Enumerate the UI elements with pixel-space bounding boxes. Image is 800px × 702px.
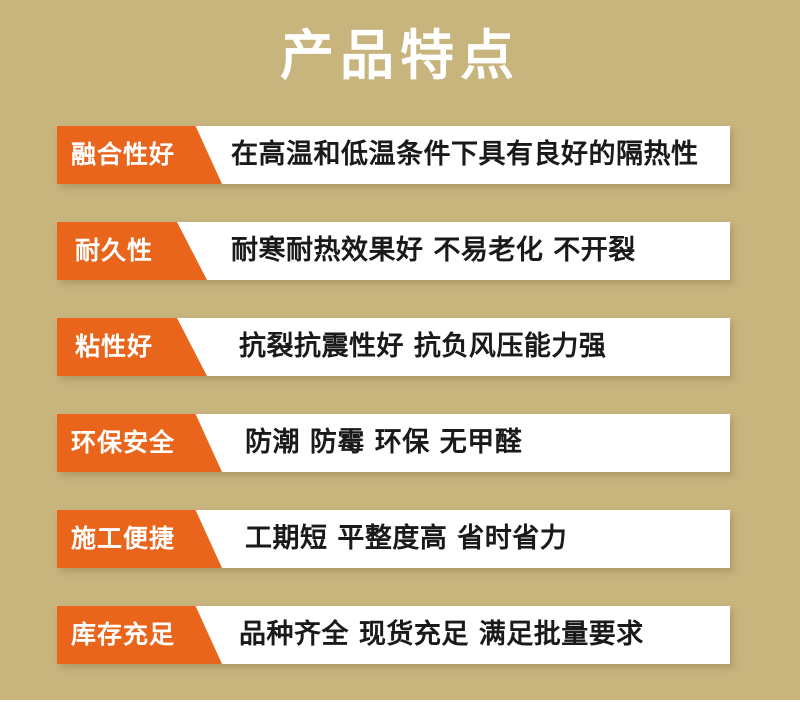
feature-row: 库存充足 品种齐全 现货充足 满足批量要求 [0,606,800,664]
feature-tag-banner: 库存充足 [57,606,222,664]
feature-row: 施工便捷 工期短 平整度高 省时省力 [0,510,800,568]
feature-tag-banner: 融合性好 [57,126,222,184]
page-title: 产品特点 [0,28,800,85]
feature-description: 耐寒耐热效果好 不易老化 不开裂 [231,222,636,280]
product-features-poster: 产品特点 融合性好 在高温和低温条件下具有良好的隔热性 耐久性 耐寒耐热效果好 … [0,0,800,700]
feature-description: 抗裂抗震性好 抗负风压能力强 [239,318,606,376]
feature-row: 环保安全 防潮 防霉 环保 无甲醛 [0,414,800,472]
feature-description: 工期短 平整度高 省时省力 [245,510,567,568]
feature-tag-label: 施工便捷 [71,510,175,568]
feature-description: 防潮 防霉 环保 无甲醛 [245,414,522,472]
feature-row: 融合性好 在高温和低温条件下具有良好的隔热性 [0,126,800,184]
feature-tag-label: 粘性好 [75,318,153,376]
feature-description: 在高温和低温条件下具有良好的隔热性 [231,126,699,184]
feature-tag-label: 耐久性 [75,222,153,280]
feature-tag-label: 环保安全 [71,414,175,472]
feature-row: 粘性好 抗裂抗震性好 抗负风压能力强 [0,318,800,376]
feature-tag-banner: 施工便捷 [57,510,222,568]
feature-description: 品种齐全 现货充足 满足批量要求 [239,606,644,664]
feature-row: 耐久性 耐寒耐热效果好 不易老化 不开裂 [0,222,800,280]
feature-tag-banner: 环保安全 [57,414,222,472]
feature-list: 融合性好 在高温和低温条件下具有良好的隔热性 耐久性 耐寒耐热效果好 不易老化 … [0,126,800,702]
feature-tag-label: 融合性好 [71,126,175,184]
feature-tag-label: 库存充足 [71,606,175,664]
